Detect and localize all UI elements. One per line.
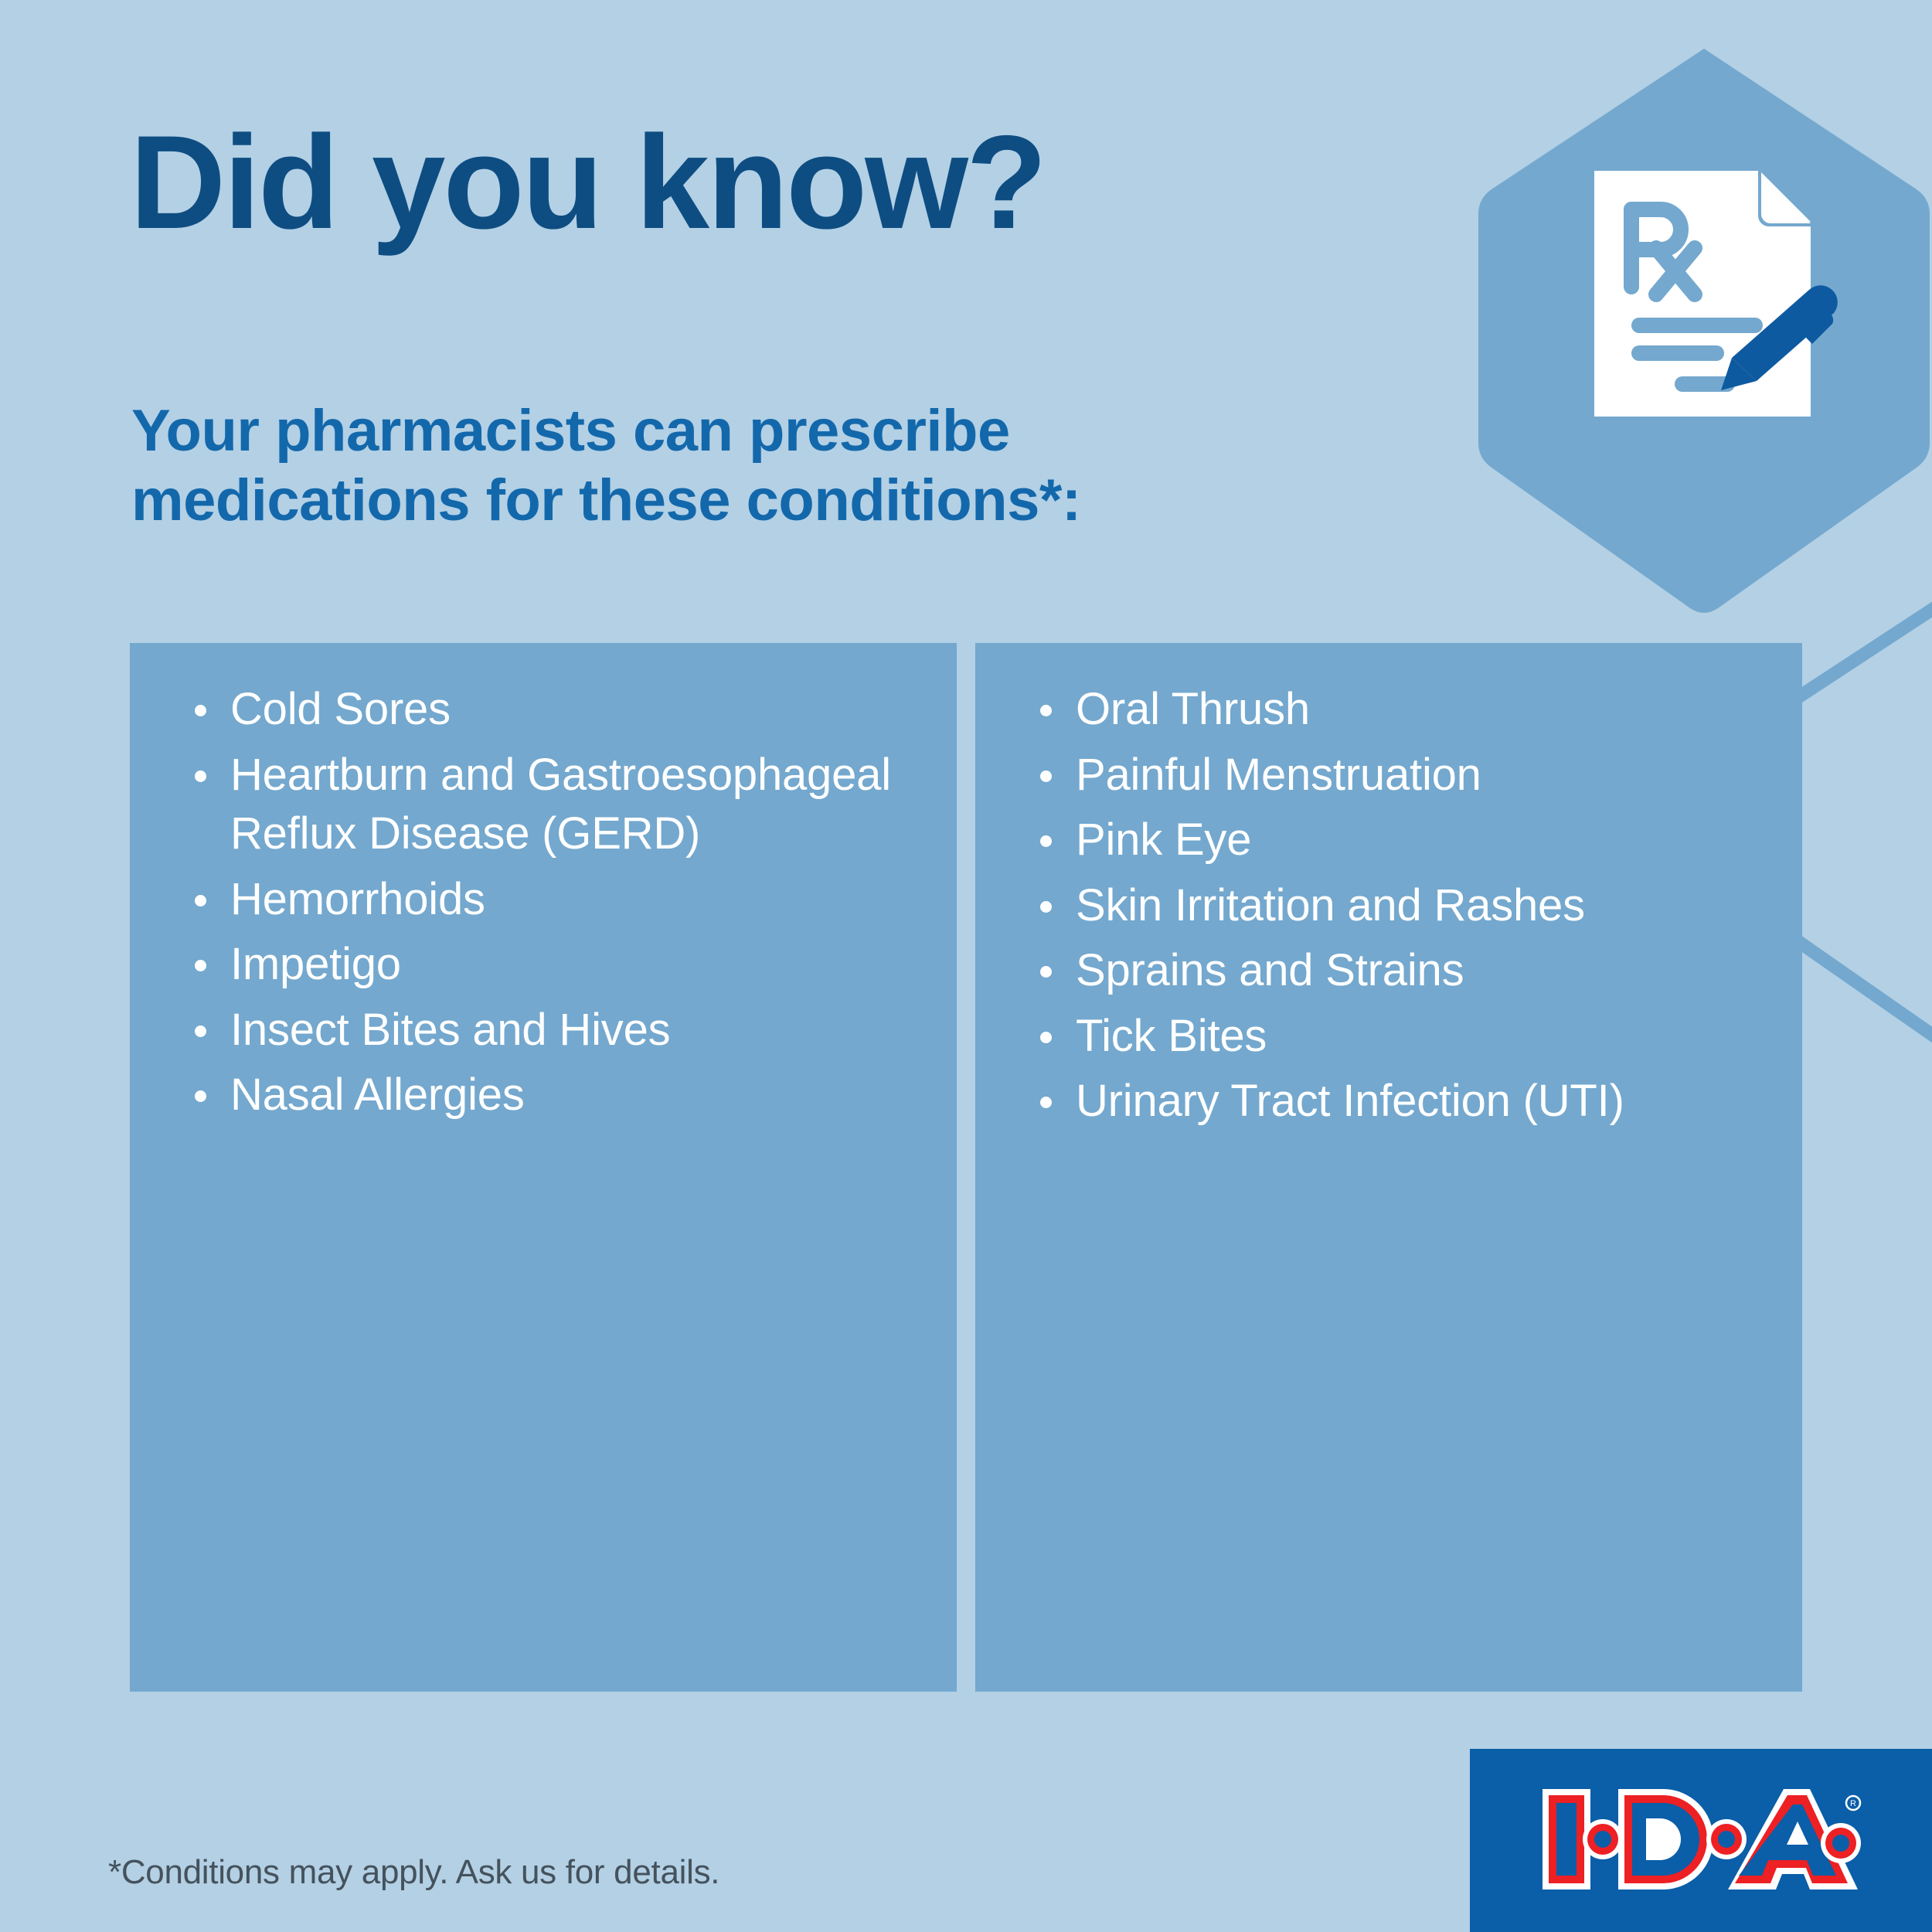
footnote-disclaimer: *Conditions may apply. Ask us for detail… xyxy=(108,1853,719,1892)
infographic-poster: Did you know? Your pharmacists can presc… xyxy=(0,0,1932,1932)
page-title: Did you know? xyxy=(130,116,1045,249)
registered-mark-icon: R xyxy=(1846,1796,1860,1810)
subtitle-line-2: medications for these conditions*: xyxy=(131,466,1081,536)
list-item: Cold Sores xyxy=(193,680,926,740)
subtitle: Your pharmacists can prescribe medicatio… xyxy=(131,396,1081,535)
list-item: Tick Bites xyxy=(1039,1007,1771,1066)
list-item: Oral Thrush xyxy=(1039,680,1771,740)
prescription-document-icon xyxy=(1588,166,1843,421)
conditions-panel-left: Cold Sores Heartburn and Gastroesophagea… xyxy=(130,643,957,1692)
list-item: Skin Irritation and Rashes xyxy=(1039,876,1771,936)
conditions-list-right: Oral Thrush Painful Menstruation Pink Ey… xyxy=(975,643,1802,1131)
list-item: Painful Menstruation xyxy=(1039,746,1771,805)
subtitle-line-1: Your pharmacists can prescribe xyxy=(131,396,1081,466)
list-item: Insect Bites and Hives xyxy=(193,1001,926,1060)
conditions-panel-right: Oral Thrush Painful Menstruation Pink Ey… xyxy=(975,643,1802,1692)
conditions-list-left: Cold Sores Heartburn and Gastroesophagea… xyxy=(130,643,957,1125)
list-item: Sprains and Strains xyxy=(1039,941,1771,1001)
list-item: Pink Eye xyxy=(1039,811,1771,870)
list-item: Impetigo xyxy=(193,935,926,995)
list-item: Urinary Tract Infection (UTI) xyxy=(1039,1072,1771,1131)
list-item: Nasal Allergies xyxy=(193,1066,926,1125)
ida-logo-icon: R xyxy=(1538,1781,1870,1897)
ida-logo-block: R xyxy=(1470,1749,1932,1932)
list-item: Heartburn and Gastroesophageal Reflux Di… xyxy=(193,746,926,864)
svg-text:R: R xyxy=(1850,1799,1856,1808)
list-item: Hemorrhoids xyxy=(193,870,926,930)
